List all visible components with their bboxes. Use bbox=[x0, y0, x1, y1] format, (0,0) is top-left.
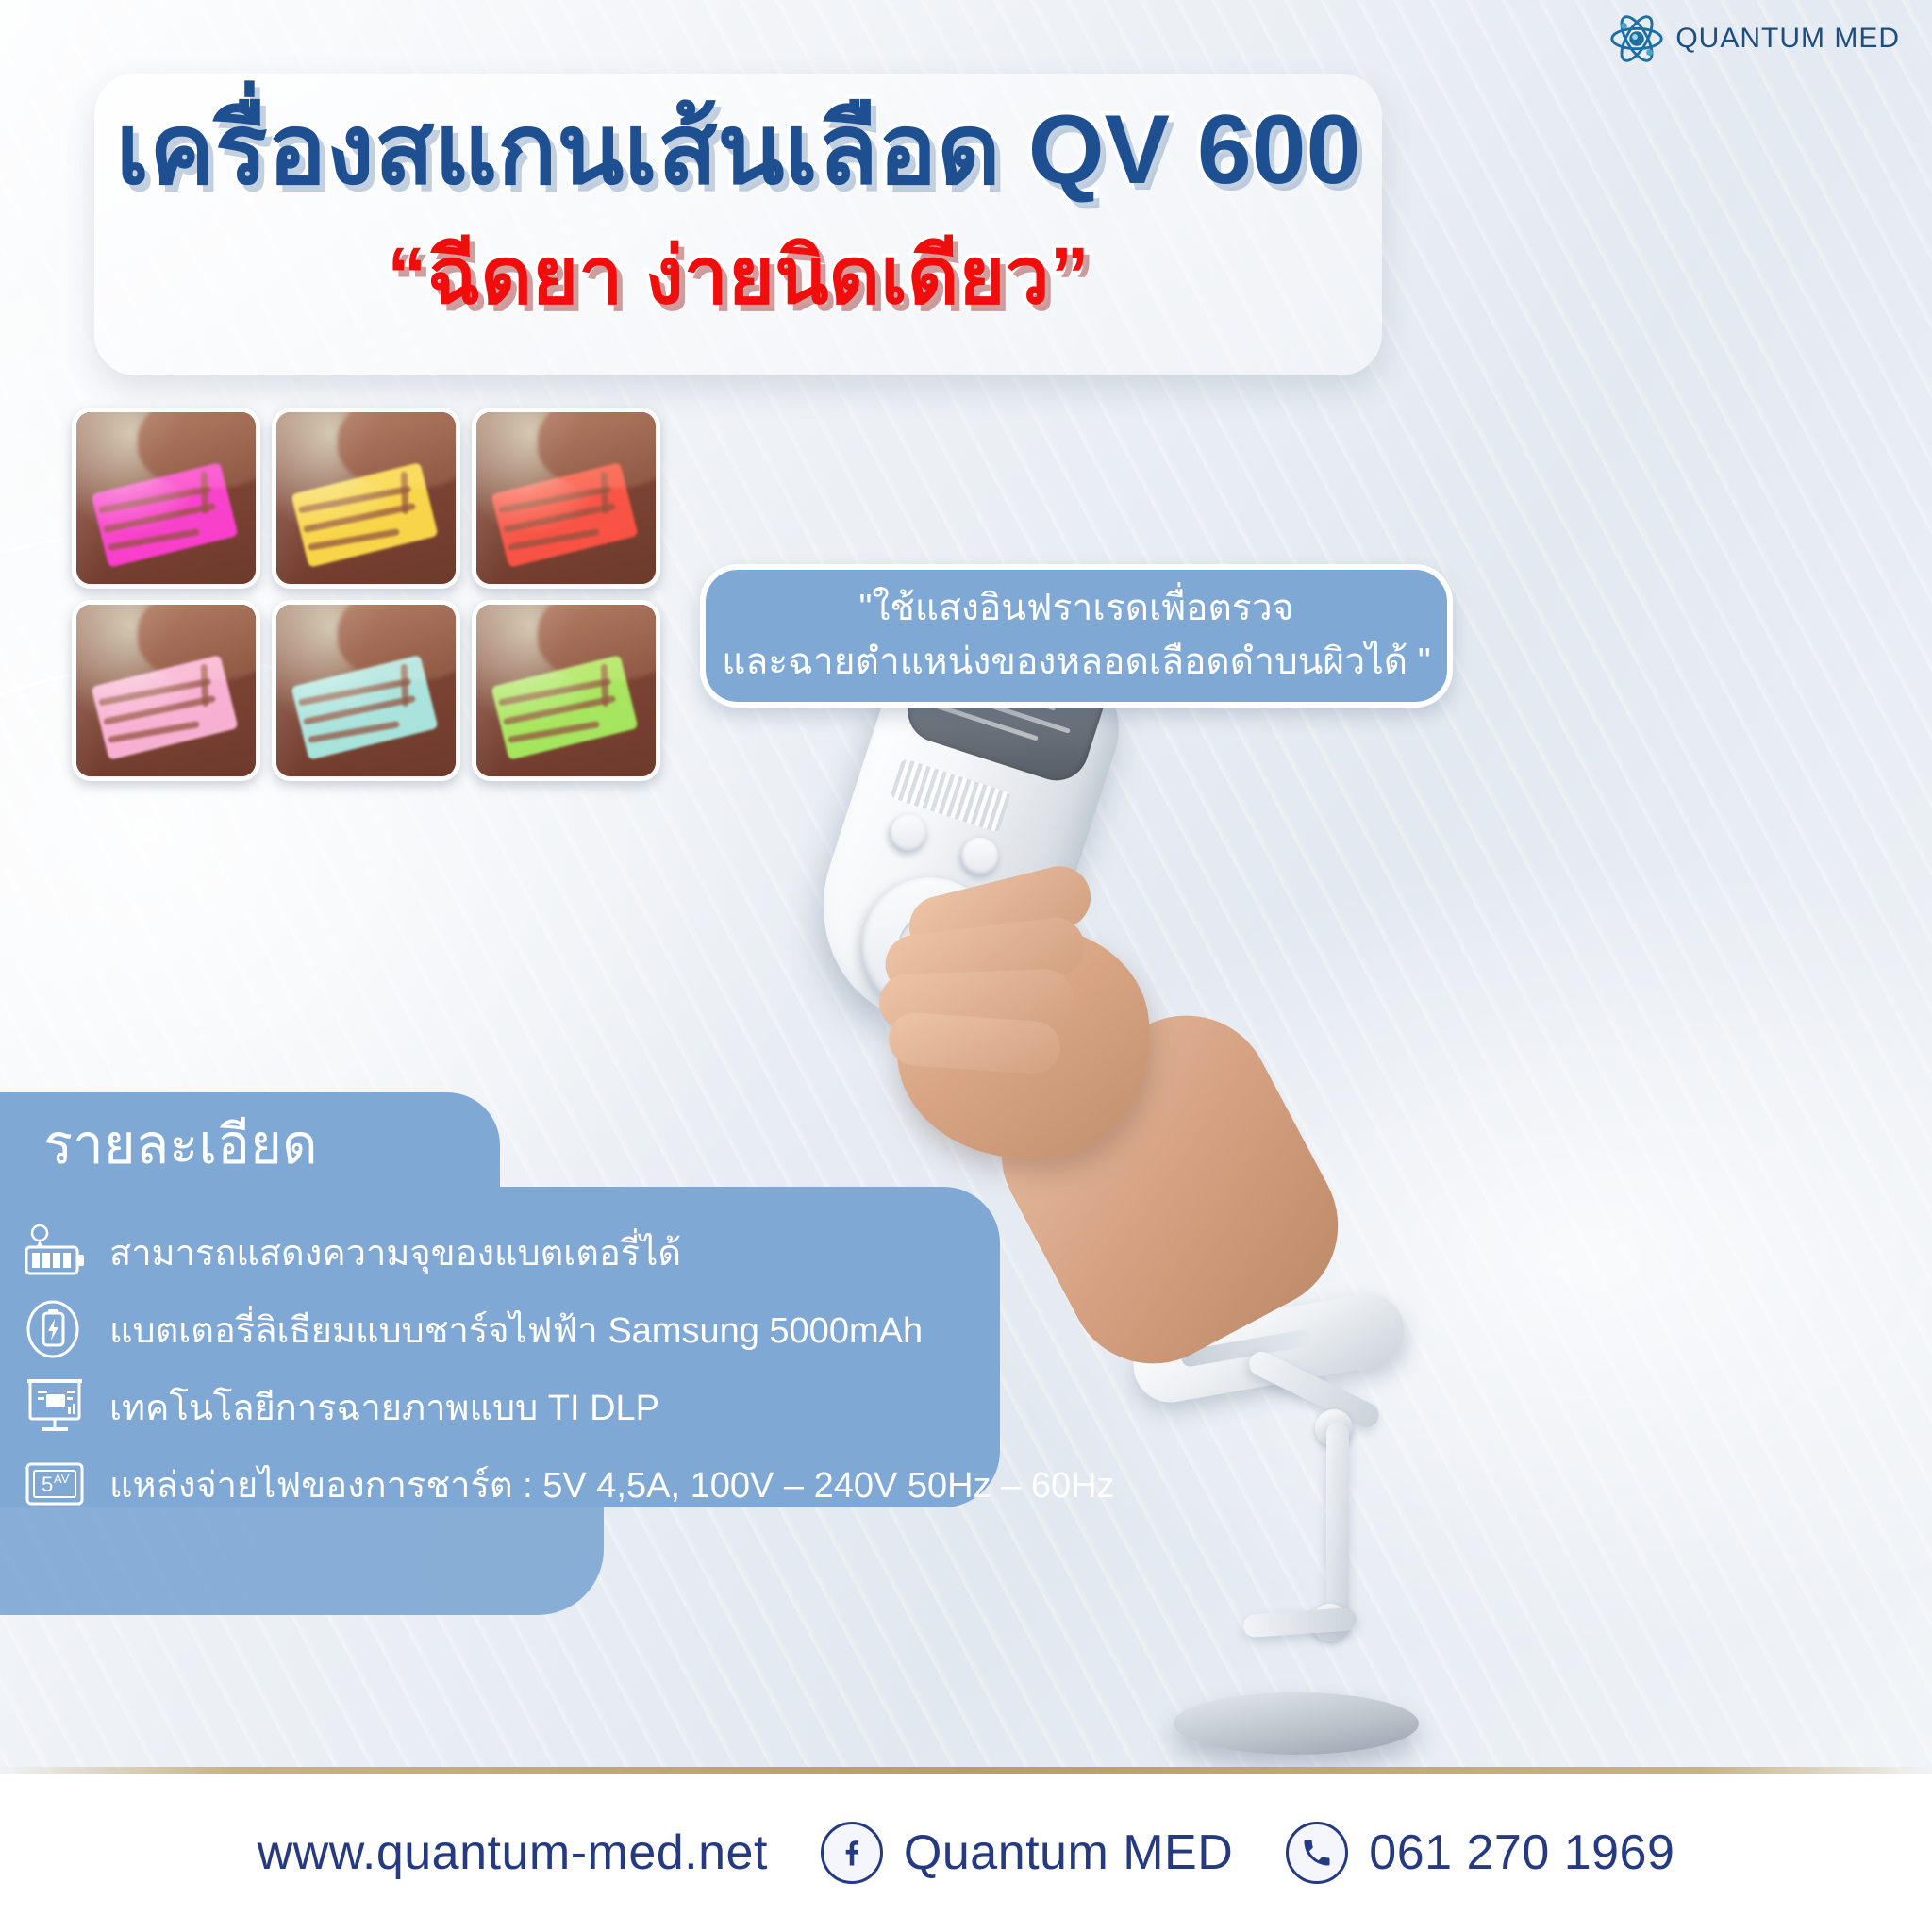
scanner-button-left bbox=[884, 809, 931, 857]
footer-divider bbox=[0, 1767, 1932, 1774]
power-supply-icon: 5 AV bbox=[21, 1455, 91, 1513]
phone-icon[interactable] bbox=[1286, 1822, 1348, 1884]
poster-canvas: QUANTUM MED เครื่องสแกนเส้นเลือด QV 600 … bbox=[0, 0, 1932, 1932]
feature-quote-line-2: และฉายตำแหน่งของหลอดเลือดดำบนผิวได้ " bbox=[722, 636, 1431, 690]
spec-text-power-supply: แหล่งจ่ายไฟของการชาร์ต : 5V 4,5A, 100V –… bbox=[109, 1456, 1115, 1513]
details-panel: รายละเอียด สามารถแสดงความจุของ bbox=[0, 1092, 1000, 1602]
feature-quote-box: "ใช้แสงอินฟราเรดเพื่อตรวจ และฉายตำแหน่งข… bbox=[700, 564, 1453, 708]
page-tagline: “ฉีดยา ง่ายนิดเดียว” bbox=[94, 211, 1382, 338]
details-header-title: รายละเอียด bbox=[43, 1100, 318, 1188]
vein-scan-thumb-6 bbox=[472, 600, 660, 781]
stand-base bbox=[1174, 1692, 1419, 1755]
facebook-name[interactable]: Quantum MED bbox=[904, 1824, 1233, 1881]
vein-scan-thumb-1 bbox=[72, 408, 260, 589]
projector-icon bbox=[21, 1377, 91, 1436]
brand-logo: QUANTUM MED bbox=[1607, 9, 1900, 68]
spec-row-power-supply: 5 AV แหล่งจ่ายไฟของการชาร์ต : 5V 4,5A, 1… bbox=[21, 1445, 1000, 1523]
vein-scan-thumb-4 bbox=[72, 600, 260, 781]
rechargeable-battery-icon bbox=[21, 1300, 91, 1358]
phone-number[interactable]: 061 270 1969 bbox=[1369, 1824, 1674, 1881]
stand-pole bbox=[1326, 1423, 1349, 1621]
svg-text:5: 5 bbox=[42, 1473, 53, 1496]
spec-row-projection-tech: เทคโนโลยีการฉายภาพแบบ TI DLP bbox=[21, 1368, 1000, 1445]
feature-quote-line-1: "ใช้แสงอินฟราเรดเพื่อตรวจ bbox=[859, 582, 1294, 636]
vein-scan-thumb-3 bbox=[472, 408, 660, 589]
facebook-icon[interactable] bbox=[821, 1822, 883, 1884]
vein-scan-thumb-2 bbox=[272, 408, 460, 589]
spec-row-rechargeable-battery: แบตเตอรี่ลิเธียมแบบชาร์จไฟฟ้า Samsung 50… bbox=[21, 1291, 1000, 1368]
phone-group[interactable]: 061 270 1969 bbox=[1286, 1822, 1674, 1884]
spec-text-projection-tech: เทคโนโลยีการฉายภาพแบบ TI DLP bbox=[109, 1378, 659, 1436]
website-link[interactable]: www.quantum-med.net bbox=[258, 1824, 768, 1881]
stand-mounted-scanner-photo bbox=[1132, 1311, 1566, 1821]
details-body: สามารถแสดงความจุของแบตเตอรี่ได้ แบตเตอรี… bbox=[0, 1187, 1000, 1507]
spec-text-rechargeable-battery: แบตเตอรี่ลิเธียมแบบชาร์จไฟฟ้า Samsung 50… bbox=[109, 1301, 923, 1358]
facebook-group[interactable]: Quantum MED bbox=[821, 1822, 1233, 1884]
footer: www.quantum-med.net Quantum MED 061 270 … bbox=[0, 1774, 1932, 1932]
spec-row-battery-capacity: สามารถแสดงความจุของแบตเตอรี่ได้ bbox=[21, 1213, 1000, 1291]
brand-name: QUANTUM MED bbox=[1675, 23, 1900, 55]
vein-scan-gallery bbox=[72, 408, 675, 781]
spec-text-battery-capacity: สามารถแสดงความจุของแบตเตอรี่ได้ bbox=[109, 1224, 681, 1281]
title-card: เครื่องสแกนเส้นเลือด QV 600 “ฉีดยา ง่ายน… bbox=[94, 74, 1382, 375]
details-header: รายละเอียด bbox=[0, 1092, 500, 1194]
battery-capacity-icon bbox=[21, 1223, 91, 1281]
atom-icon bbox=[1607, 9, 1666, 68]
page-title: เครื่องสแกนเส้นเลือด QV 600 bbox=[94, 94, 1382, 208]
vein-scan-thumb-5 bbox=[272, 600, 460, 781]
svg-text:AV: AV bbox=[54, 1472, 70, 1486]
